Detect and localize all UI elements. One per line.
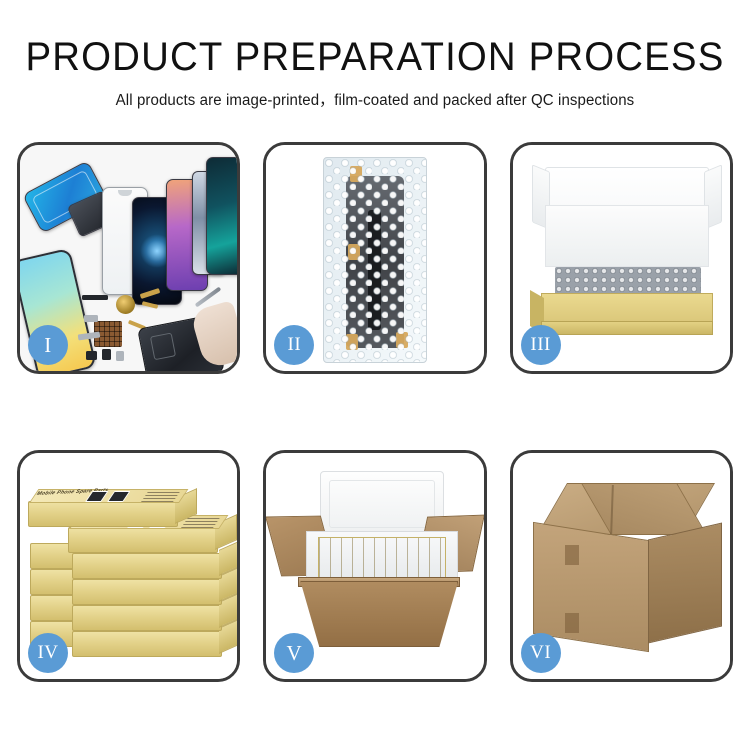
small-part-bracket bbox=[84, 315, 98, 322]
process-step-4: Mobile Phone Spare Parts Mobile Phone Sp… bbox=[17, 450, 240, 682]
bubble-texture bbox=[324, 158, 426, 362]
bubble-wrapped-contents bbox=[555, 267, 701, 295]
small-part-chip-b bbox=[102, 349, 111, 360]
copper-coil-part bbox=[116, 295, 135, 314]
small-part-chip-a bbox=[86, 351, 97, 360]
step-badge-4: IV bbox=[28, 633, 68, 673]
page-title: PRODUCT PREPARATION PROCESS bbox=[15, 36, 735, 78]
page-subtitle: All products are image-printed，film-coat… bbox=[11, 88, 739, 110]
stacked-box-front-3 bbox=[72, 579, 222, 605]
kraft-boxes-inside bbox=[318, 537, 446, 579]
foam-inner-panel bbox=[545, 205, 709, 267]
stacked-box-front-2 bbox=[72, 553, 222, 579]
stacked-box-front-bottom bbox=[72, 631, 222, 657]
header: PRODUCT PREPARATION PROCESS All products… bbox=[0, 36, 750, 110]
process-step-3: III bbox=[510, 142, 733, 374]
stacked-box-front-4 bbox=[72, 605, 222, 631]
carton-front-face bbox=[533, 522, 649, 652]
carton-side-face bbox=[648, 522, 722, 643]
process-step-5: V bbox=[263, 450, 486, 682]
process-step-2: II bbox=[263, 142, 486, 374]
process-step-grid: I II bbox=[17, 142, 733, 682]
bubble-wrap-bag bbox=[323, 157, 427, 363]
small-part-strip bbox=[82, 295, 108, 300]
step-badge-1: I bbox=[28, 325, 68, 365]
stacked-box-front-top: Mobile Phone Spare Parts bbox=[68, 527, 218, 553]
phone-teal-wave bbox=[206, 157, 237, 275]
small-part-chip-c bbox=[116, 351, 124, 361]
product-preparation-infographic: PRODUCT PREPARATION PROCESS All products… bbox=[0, 0, 750, 750]
kraft-box-front-wall bbox=[541, 321, 713, 335]
stacked-box-rear-top: Mobile Phone Spare Parts bbox=[28, 501, 178, 527]
step-badge-6: VI bbox=[521, 633, 561, 673]
step-badge-3: III bbox=[521, 325, 561, 365]
carton-tape-lower bbox=[565, 613, 579, 633]
process-step-6: VI bbox=[510, 450, 733, 682]
carton-body bbox=[300, 581, 458, 647]
carton-tape-upper bbox=[565, 545, 579, 565]
process-step-1: I bbox=[17, 142, 240, 374]
